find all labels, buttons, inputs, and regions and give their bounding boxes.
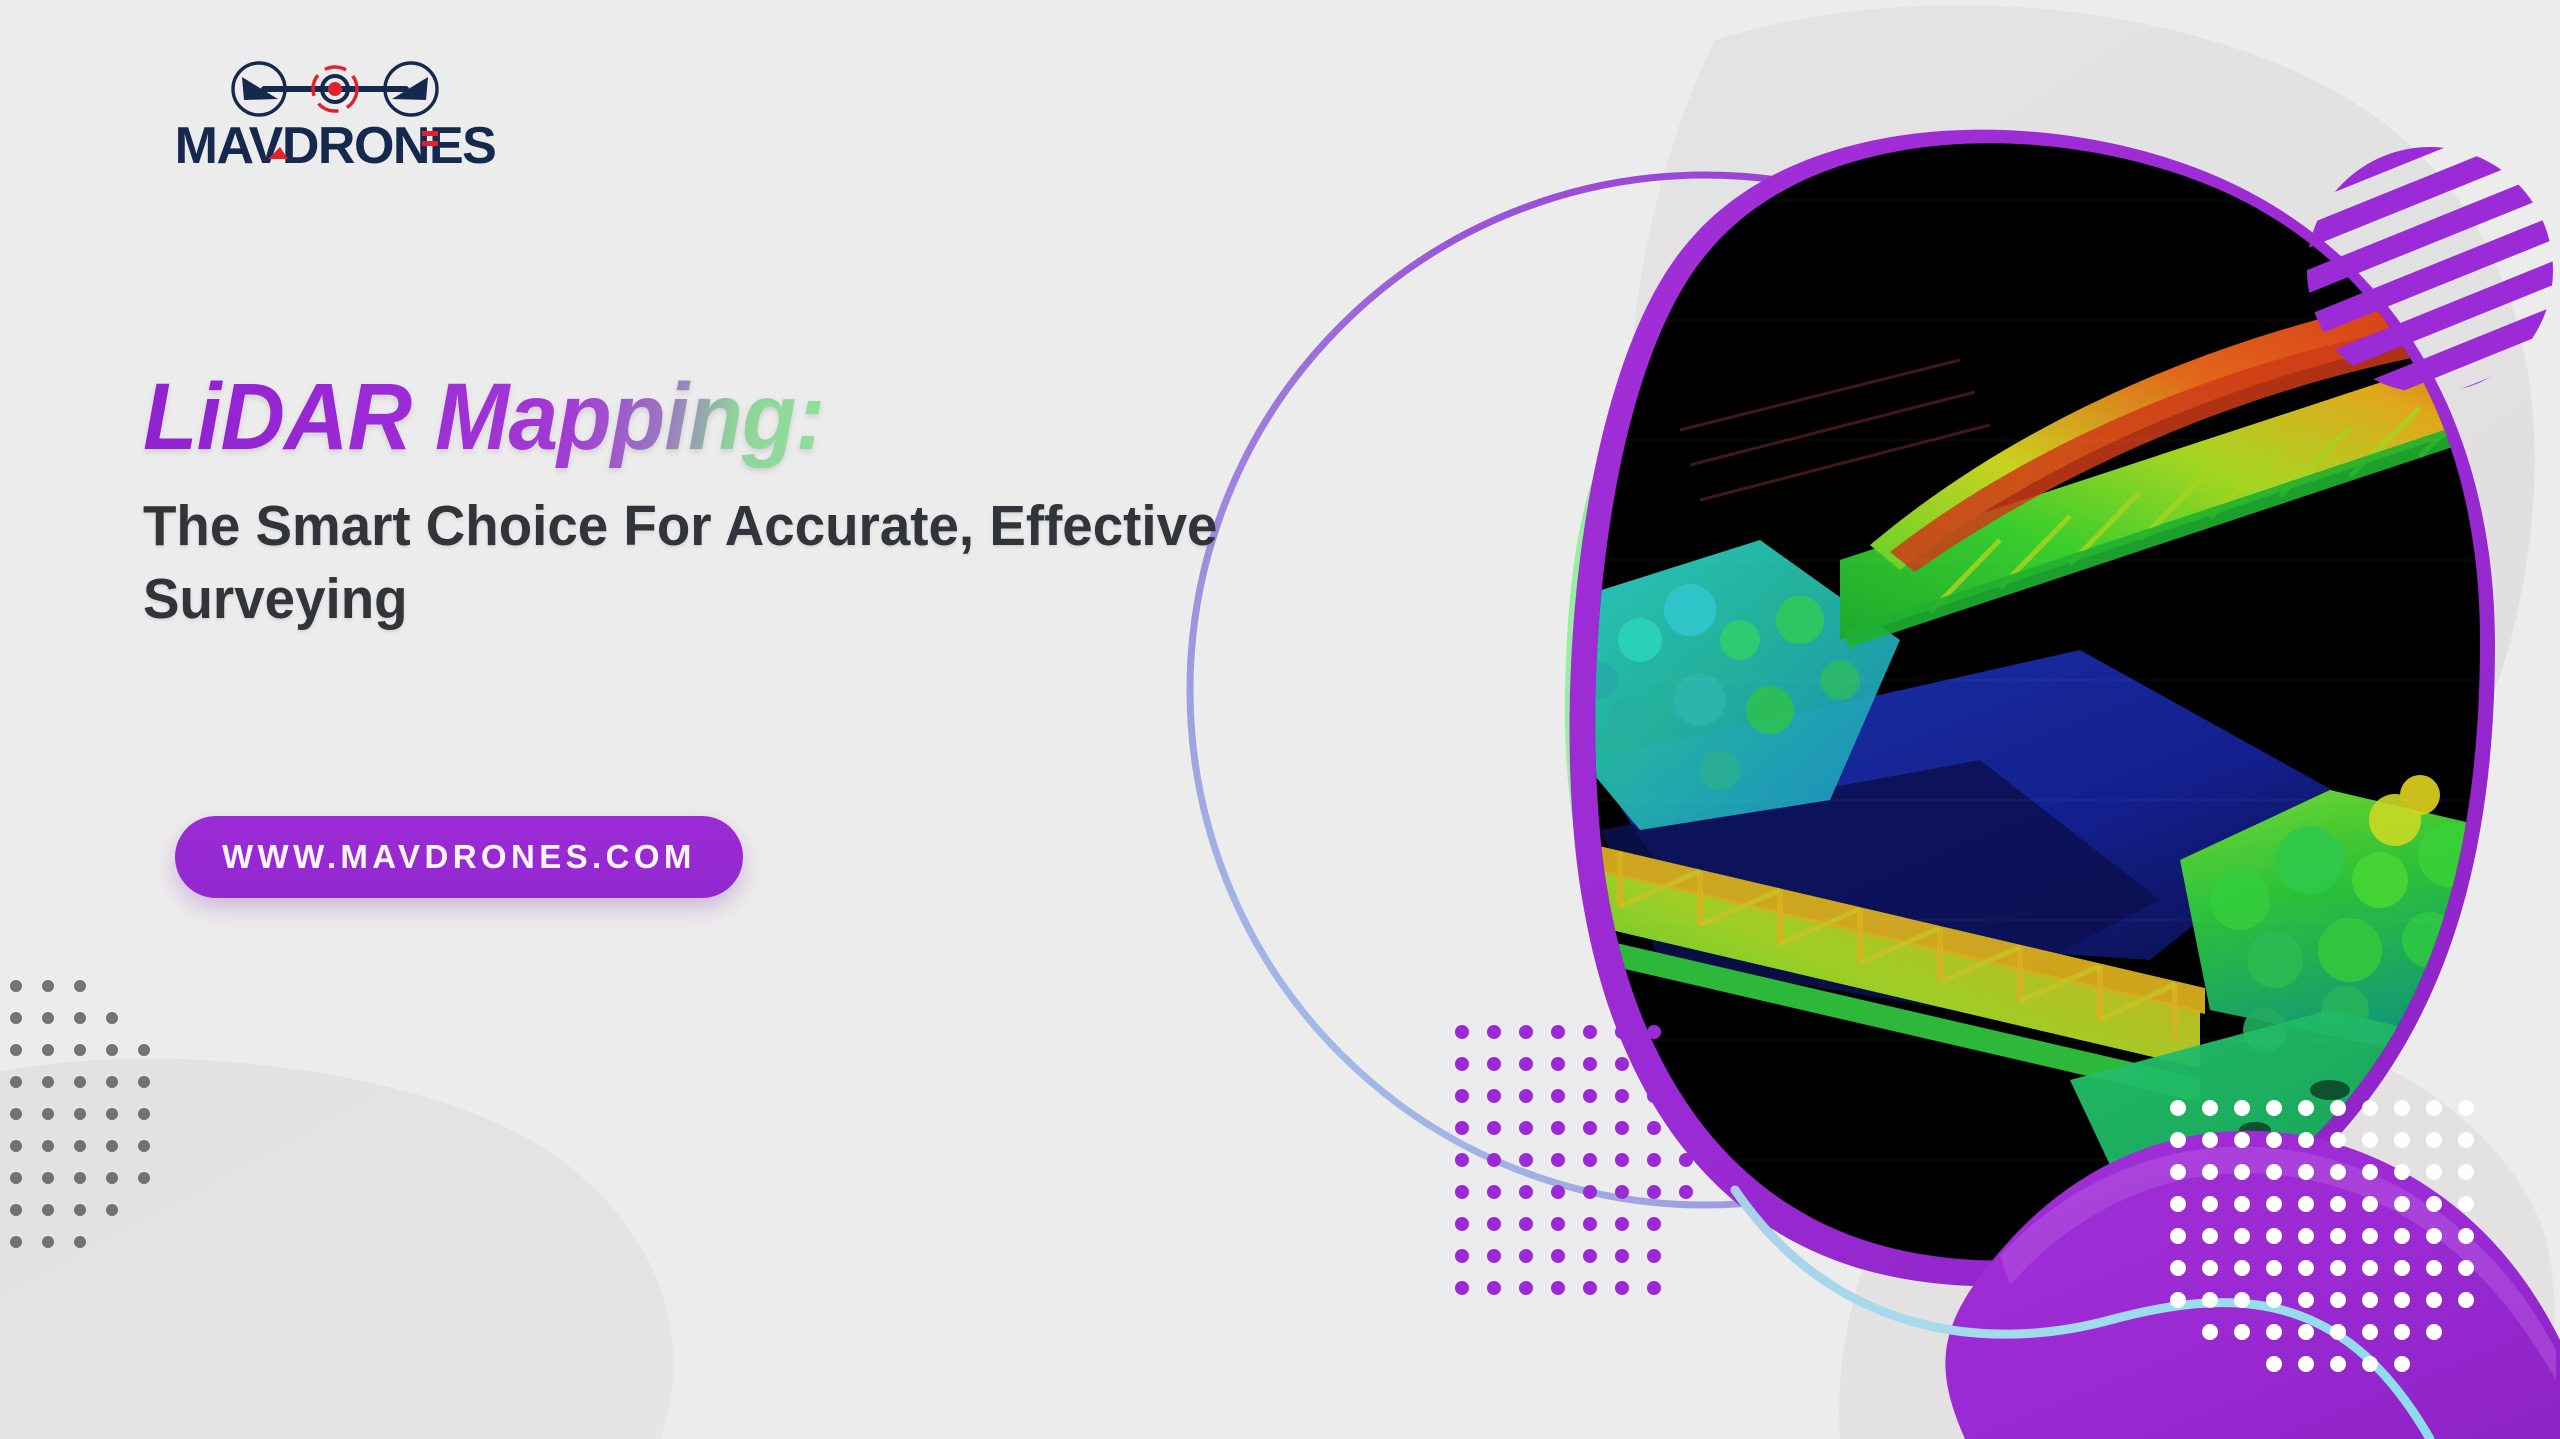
website-url-button[interactable]: WWW.MAVDRONES.COM — [175, 816, 743, 898]
decorative-dot — [2298, 1100, 2314, 1116]
decorative-dot — [2362, 1132, 2378, 1148]
decorative-dot — [10, 1236, 22, 1248]
decorative-dot — [2426, 1164, 2442, 1180]
decorative-dot — [1551, 1185, 1565, 1199]
decorative-dot — [1487, 1185, 1501, 1199]
decorative-dot — [2266, 1356, 2282, 1372]
decorative-dot — [74, 1108, 86, 1120]
decorative-dot — [2298, 1260, 2314, 1276]
decorative-dot — [74, 1140, 86, 1152]
decorative-dot — [1551, 1089, 1565, 1103]
decorative-dot — [42, 1012, 54, 1024]
decorative-dot — [1455, 1121, 1469, 1135]
decorative-dot — [2202, 1324, 2218, 1340]
decorative-dot — [106, 1044, 118, 1056]
decorative-dot — [106, 1204, 118, 1216]
decorative-dot — [74, 1236, 86, 1248]
decorative-dot — [2458, 1196, 2474, 1212]
decorative-dot — [10, 1044, 22, 1056]
decorative-dot — [10, 980, 22, 992]
decorative-dot — [74, 1044, 86, 1056]
decorative-dot — [1583, 1089, 1597, 1103]
decorative-dot — [2362, 1100, 2378, 1116]
hero-copy: LiDAR Mapping: The Smart Choice For Accu… — [143, 368, 1403, 636]
decorative-dot — [2266, 1292, 2282, 1308]
decorative-dot — [2298, 1164, 2314, 1180]
decorative-dot — [2458, 1292, 2474, 1308]
decorative-dot — [1519, 1217, 1533, 1231]
page-title: LiDAR Mapping: — [143, 368, 1327, 468]
decorative-dot — [1615, 1153, 1629, 1167]
grey-blob-top — [1627, 5, 2535, 998]
decorative-dot — [1647, 1121, 1661, 1135]
decorative-dot — [1519, 1153, 1533, 1167]
decorative-dot — [1487, 1281, 1501, 1295]
striped-circle-decoration — [2242, 93, 2560, 459]
decorative-dot — [1647, 1089, 1661, 1103]
decorative-dot — [1647, 1217, 1661, 1231]
decorative-dot — [1647, 1249, 1661, 1263]
decorative-dot — [1455, 1281, 1469, 1295]
mavdrones-logo[interactable]: MAVDRONES — [160, 55, 510, 170]
decorative-dot — [10, 1076, 22, 1088]
decorative-dot — [2426, 1100, 2442, 1116]
white-dot-grid-bottom-right — [2170, 1100, 2490, 1400]
decorative-dot — [138, 1044, 150, 1056]
decorative-dot — [1583, 1153, 1597, 1167]
decorative-dot — [2362, 1260, 2378, 1276]
decorative-dot — [2234, 1292, 2250, 1308]
decorative-dot — [1487, 1153, 1501, 1167]
upper-bridge-deck — [1840, 330, 2540, 640]
decorative-dot — [1679, 1153, 1693, 1167]
banner-canvas: MAVDRONES LiDAR Mapping: The Smart Choic… — [0, 0, 2560, 1439]
decorative-dot — [1583, 1025, 1597, 1039]
decorative-dot — [1679, 1121, 1693, 1135]
decorative-dot — [106, 1172, 118, 1184]
decorative-dot — [2426, 1132, 2442, 1148]
decorative-dot — [10, 1204, 22, 1216]
decorative-dot — [1551, 1281, 1565, 1295]
decorative-dot — [2426, 1196, 2442, 1212]
decorative-dot — [138, 1172, 150, 1184]
decorative-dot — [2170, 1196, 2186, 1212]
decorative-dot — [1455, 1185, 1469, 1199]
decorative-dot — [2266, 1132, 2282, 1148]
decorative-dot — [1615, 1249, 1629, 1263]
decorative-dot — [10, 1172, 22, 1184]
decorative-dot — [2394, 1228, 2410, 1244]
decorative-dot — [2234, 1260, 2250, 1276]
decorative-dot — [1487, 1121, 1501, 1135]
decorative-dot — [138, 1076, 150, 1088]
purple-dot-grid-bottom-center — [1455, 1025, 1715, 1285]
decorative-dot — [2266, 1260, 2282, 1276]
decorative-dot — [2234, 1132, 2250, 1148]
decorative-dot — [42, 1172, 54, 1184]
decorative-dot — [1519, 1185, 1533, 1199]
decorative-dot — [1583, 1281, 1597, 1295]
decorative-dot — [2458, 1164, 2474, 1180]
decorative-dot — [1647, 1057, 1661, 1071]
decorative-dot — [106, 1076, 118, 1088]
decorative-dot — [42, 1044, 54, 1056]
decorative-dot — [1615, 1185, 1629, 1199]
decorative-dot — [138, 1140, 150, 1152]
decorative-dot — [106, 1108, 118, 1120]
decorative-dot — [2266, 1164, 2282, 1180]
decorative-dot — [2458, 1260, 2474, 1276]
decorative-dot — [2330, 1164, 2346, 1180]
decorative-dot — [1583, 1185, 1597, 1199]
decorative-dot — [42, 1236, 54, 1248]
decorative-dot — [138, 1108, 150, 1120]
svg-text:MAVDRONES: MAVDRONES — [175, 117, 496, 170]
decorative-dot — [2394, 1100, 2410, 1116]
decorative-dot — [2170, 1260, 2186, 1276]
decorative-dot — [1519, 1089, 1533, 1103]
decorative-dot — [2170, 1100, 2186, 1116]
decorative-dot — [1583, 1121, 1597, 1135]
decorative-dot — [2170, 1164, 2186, 1180]
gray-dot-grid-bottom-left — [10, 980, 180, 1220]
decorative-dot — [74, 1012, 86, 1024]
decorative-dot — [2394, 1324, 2410, 1340]
decorative-dot — [2458, 1228, 2474, 1244]
decorative-dot — [1583, 1057, 1597, 1071]
decorative-dot — [2426, 1228, 2442, 1244]
decorative-dot — [2426, 1324, 2442, 1340]
page-subtitle: The Smart Choice For Accurate, Effective… — [143, 490, 1276, 636]
decorative-dot — [2330, 1356, 2346, 1372]
decorative-dot — [1615, 1089, 1629, 1103]
decorative-dot — [10, 1012, 22, 1024]
decorative-dot — [1583, 1249, 1597, 1263]
decorative-dot — [2394, 1356, 2410, 1372]
decorative-dot — [1455, 1153, 1469, 1167]
decorative-dot — [42, 980, 54, 992]
decorative-dot — [1487, 1249, 1501, 1263]
decorative-dot — [1647, 1025, 1661, 1039]
decorative-dot — [2234, 1164, 2250, 1180]
upper-bridge-arch — [1870, 278, 2540, 570]
decorative-dot — [1455, 1217, 1469, 1231]
decorative-dot — [2330, 1260, 2346, 1276]
decorative-dot — [2362, 1228, 2378, 1244]
decorative-dot — [2234, 1324, 2250, 1340]
decorative-dot — [2234, 1228, 2250, 1244]
decorative-dot — [1519, 1025, 1533, 1039]
decorative-dot — [74, 980, 86, 992]
decorative-dot — [2234, 1100, 2250, 1116]
decorative-dot — [2330, 1132, 2346, 1148]
decorative-dot — [2330, 1292, 2346, 1308]
decorative-dot — [2202, 1196, 2218, 1212]
decorative-dot — [2426, 1292, 2442, 1308]
decorative-dot — [2298, 1292, 2314, 1308]
decorative-dot — [2362, 1292, 2378, 1308]
decorative-dot — [106, 1140, 118, 1152]
decorative-dot — [2202, 1100, 2218, 1116]
decorative-dot — [2426, 1260, 2442, 1276]
decorative-dot — [2202, 1228, 2218, 1244]
logo-wordmark: MAVDRONES — [175, 117, 496, 170]
website-url-label: WWW.MAVDRONES.COM — [222, 838, 696, 876]
decorative-dot — [1647, 1185, 1661, 1199]
decorative-dot — [2330, 1100, 2346, 1116]
decorative-dot — [1487, 1057, 1501, 1071]
decorative-dot — [1615, 1281, 1629, 1295]
decorative-dot — [1551, 1121, 1565, 1135]
decorative-dot — [2458, 1100, 2474, 1116]
decorative-dot — [1519, 1249, 1533, 1263]
decorative-dot — [2394, 1164, 2410, 1180]
decorative-dot — [1455, 1025, 1469, 1039]
decorative-dot — [42, 1204, 54, 1216]
decorative-dot — [2170, 1132, 2186, 1148]
decorative-dot — [2394, 1196, 2410, 1212]
decorative-dot — [2330, 1324, 2346, 1340]
decorative-dot — [1455, 1249, 1469, 1263]
decorative-dot — [2394, 1292, 2410, 1308]
decorative-dot — [1615, 1217, 1629, 1231]
decorative-dot — [1551, 1249, 1565, 1263]
decorative-dot — [2266, 1324, 2282, 1340]
decorative-dot — [1679, 1185, 1693, 1199]
decorative-dot — [2298, 1132, 2314, 1148]
decorative-dot — [2394, 1260, 2410, 1276]
decorative-dot — [1615, 1057, 1629, 1071]
decorative-dot — [2298, 1356, 2314, 1372]
decorative-dot — [74, 1204, 86, 1216]
decorative-dot — [1647, 1153, 1661, 1167]
decorative-dot — [2266, 1228, 2282, 1244]
decorative-dot — [2170, 1228, 2186, 1244]
decorative-dot — [74, 1076, 86, 1088]
decorative-dot — [2394, 1132, 2410, 1148]
decorative-dot — [2362, 1324, 2378, 1340]
decorative-dot — [1487, 1025, 1501, 1039]
decorative-dot — [2330, 1196, 2346, 1212]
decorative-dot — [2362, 1356, 2378, 1372]
decorative-dot — [1583, 1217, 1597, 1231]
decorative-dot — [10, 1108, 22, 1120]
decorative-dot — [2202, 1260, 2218, 1276]
decorative-dot — [2458, 1132, 2474, 1148]
decorative-dot — [2202, 1292, 2218, 1308]
decorative-dot — [2170, 1292, 2186, 1308]
decorative-dot — [2298, 1324, 2314, 1340]
decorative-dot — [42, 1140, 54, 1152]
decorative-dot — [1455, 1089, 1469, 1103]
decorative-dot — [42, 1076, 54, 1088]
decorative-dot — [1551, 1057, 1565, 1071]
decorative-dot — [1615, 1025, 1629, 1039]
decorative-dot — [2266, 1196, 2282, 1212]
decorative-dot — [1519, 1057, 1533, 1071]
decorative-dot — [2330, 1228, 2346, 1244]
decorative-dot — [1455, 1057, 1469, 1071]
decorative-dot — [2298, 1196, 2314, 1212]
decorative-dot — [1647, 1281, 1661, 1295]
decorative-dot — [2202, 1132, 2218, 1148]
decorative-dot — [1519, 1121, 1533, 1135]
decorative-dot — [1615, 1121, 1629, 1135]
decorative-dot — [2362, 1164, 2378, 1180]
decorative-dot — [1551, 1153, 1565, 1167]
decorative-dot — [2362, 1196, 2378, 1212]
decorative-dot — [2234, 1196, 2250, 1212]
decorative-dot — [1519, 1281, 1533, 1295]
decorative-dot — [2298, 1228, 2314, 1244]
decorative-dot — [106, 1012, 118, 1024]
decorative-dot — [1487, 1089, 1501, 1103]
decorative-dot — [1551, 1025, 1565, 1039]
decorative-dot — [2266, 1100, 2282, 1116]
decorative-dot — [42, 1108, 54, 1120]
decorative-dot — [1487, 1217, 1501, 1231]
decorative-dot — [10, 1140, 22, 1152]
decorative-dot — [1551, 1217, 1565, 1231]
decorative-dot — [74, 1172, 86, 1184]
decorative-dot — [2202, 1164, 2218, 1180]
